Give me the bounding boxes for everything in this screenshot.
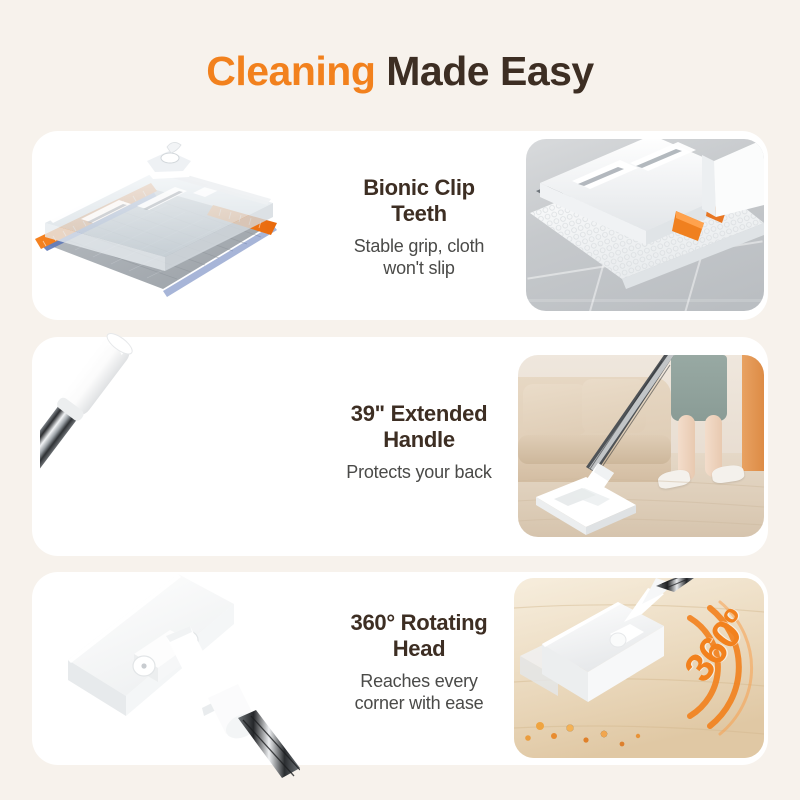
feature-title: 39" Extended Handle: [294, 401, 544, 453]
feature-title: Bionic Clip Teeth: [294, 175, 544, 227]
feature-photo-mop-head-gripping-cloth: [526, 139, 764, 311]
feature-subtitle: Stable grip, cloth won't slip: [294, 235, 544, 280]
feature-card-rotating-head: 360° Rotating Head Reaches every corner …: [32, 572, 768, 765]
page-title: Cleaning Made Easy: [0, 48, 800, 95]
feature-title-line1: Bionic Clip: [294, 175, 544, 201]
feature-text-extended-handle: 39" Extended Handle Protects your back: [294, 401, 544, 483]
feature-subtitle: Protects your back: [294, 461, 544, 484]
feature-title: 360° Rotating Head: [294, 610, 544, 662]
feature-photo-woman-mopping-living-room: [518, 355, 764, 537]
feature-subtitle-line1: Protects your back: [294, 461, 544, 484]
product-image-stainless-steel-pole: [40, 329, 290, 564]
feature-title-line1: 360° Rotating: [294, 610, 544, 636]
page-title-rest: Made Easy: [375, 48, 593, 94]
feature-subtitle-line2: won't slip: [294, 257, 544, 280]
feature-subtitle: Reaches every corner with ease: [294, 670, 544, 715]
feature-title-line2: Head: [294, 636, 544, 662]
feature-title-line2: Teeth: [294, 201, 544, 227]
feature-title-line1: 39" Extended: [294, 401, 544, 427]
feature-text-rotating-head: 360° Rotating Head Reaches every corner …: [294, 610, 544, 715]
product-image-mop-head-swivel-joint: [38, 568, 300, 783]
feature-subtitle-line2: corner with ease: [294, 692, 544, 715]
feature-text-bionic-clip-teeth: Bionic Clip Teeth Stable grip, cloth won…: [294, 175, 544, 280]
infographic-page: Cleaning Made Easy: [0, 0, 800, 800]
product-image-mop-head-underside-with-orange-clip-teeth: [27, 127, 297, 327]
feature-photo-rotating-head-demo: 360º: [514, 578, 764, 758]
feature-subtitle-line1: Stable grip, cloth: [294, 235, 544, 258]
feature-card-extended-handle: 39" Extended Handle Protects your back: [32, 337, 768, 556]
page-title-highlight: Cleaning: [206, 48, 375, 94]
feature-title-line2: Handle: [294, 427, 544, 453]
feature-card-bionic-clip-teeth: Bionic Clip Teeth Stable grip, cloth won…: [32, 131, 768, 320]
feature-subtitle-line1: Reaches every: [294, 670, 544, 693]
